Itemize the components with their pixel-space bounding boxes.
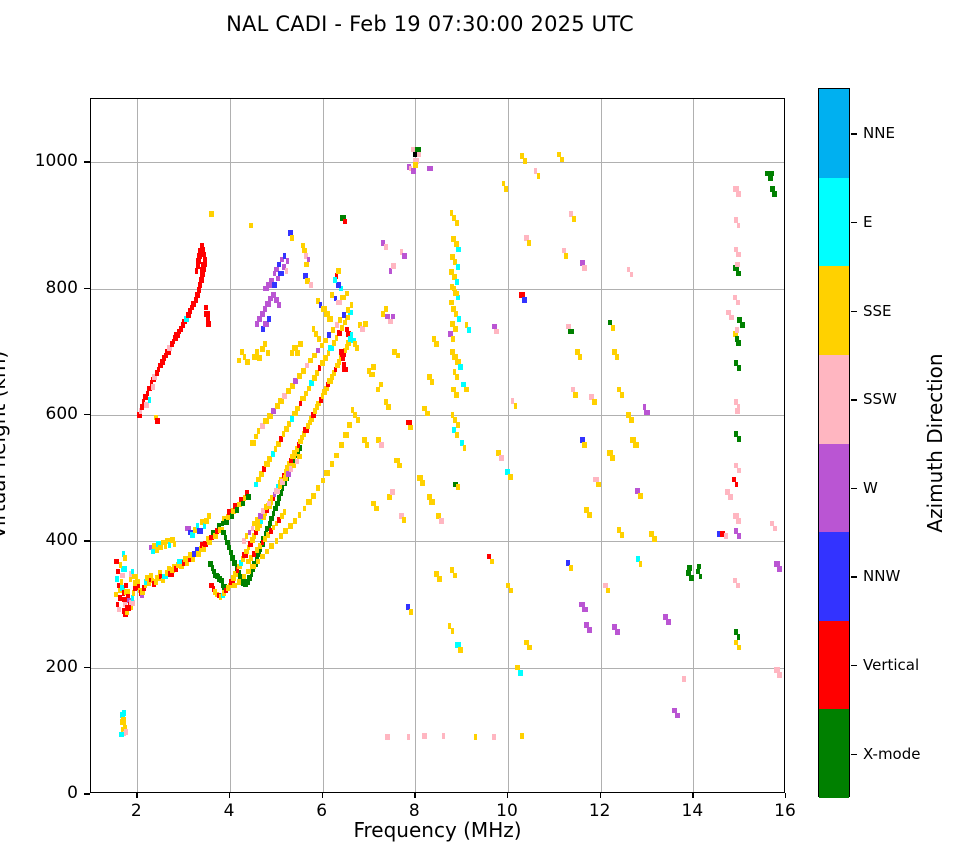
data-point [272, 282, 277, 288]
data-point [408, 425, 413, 431]
data-point [350, 332, 353, 338]
data-point [257, 355, 262, 361]
data-point [736, 191, 741, 197]
data-point [425, 411, 429, 417]
data-point [341, 355, 346, 361]
data-point [687, 565, 692, 571]
data-point [282, 431, 285, 437]
data-point [304, 391, 309, 397]
y-tick [84, 161, 90, 163]
data-point [523, 158, 527, 164]
data-point [298, 512, 301, 518]
data-point [272, 511, 275, 517]
data-point [256, 559, 260, 565]
data-point [274, 488, 280, 494]
data-point [265, 549, 270, 555]
data-point [735, 262, 739, 268]
data-point [261, 326, 265, 332]
data-point [290, 350, 294, 356]
data-point [309, 380, 315, 386]
data-point [257, 428, 260, 434]
colorbar-segment-e[interactable] [819, 178, 849, 267]
data-point [689, 575, 694, 581]
data-point [351, 407, 355, 413]
data-point [430, 379, 435, 385]
colorbar-label-nnw: NNW [863, 567, 900, 585]
data-point [117, 607, 121, 613]
data-point [271, 451, 275, 457]
data-point [209, 211, 214, 217]
data-point [269, 516, 274, 522]
data-point [391, 263, 396, 269]
data-point [254, 434, 258, 440]
data-point [492, 734, 497, 740]
data-point [276, 441, 281, 447]
data-point [260, 346, 265, 352]
colorbar-title: Azimuth Direction [923, 353, 947, 532]
data-point [527, 645, 532, 651]
data-point [327, 316, 333, 322]
data-point [290, 416, 294, 422]
data-point [246, 569, 251, 575]
colorbar-segment-x-mode[interactable] [819, 709, 849, 798]
data-point [777, 566, 783, 572]
y-tick-label: 200 [46, 657, 78, 677]
data-point [242, 574, 246, 580]
data-point [402, 253, 407, 259]
data-point [740, 322, 745, 328]
data-point [736, 271, 741, 277]
data-point [736, 252, 741, 258]
data-point [249, 223, 253, 229]
x-tick [414, 793, 415, 798]
colorbar-segment-vertical[interactable] [819, 621, 849, 710]
data-point [386, 404, 390, 410]
data-point [246, 494, 251, 500]
data-point [735, 482, 738, 488]
data-point [293, 378, 298, 384]
data-point [144, 402, 148, 408]
data-point [255, 321, 259, 327]
data-point [312, 326, 316, 332]
data-point [324, 470, 330, 476]
data-point [504, 186, 508, 192]
data-point [582, 442, 587, 448]
data-point [252, 354, 257, 360]
data-point [168, 542, 171, 548]
data-point [200, 267, 205, 273]
data-point [379, 442, 384, 448]
data-point [397, 463, 402, 469]
colorbar[interactable]: NNEESSESSWWNNWVerticalX-mode [818, 88, 850, 797]
data-point [633, 442, 639, 448]
data-point [304, 262, 309, 268]
data-point [320, 360, 325, 366]
data-point [278, 398, 283, 404]
data-point [365, 442, 370, 448]
data-point [737, 436, 741, 442]
data-point [275, 403, 280, 409]
data-point [292, 411, 297, 417]
y-tick-label: 800 [46, 278, 78, 298]
colorbar-label-w: W [863, 479, 878, 497]
x-tick [600, 793, 601, 798]
gridline-vertical [415, 99, 416, 792]
data-point [456, 422, 460, 428]
data-point [196, 551, 201, 557]
data-point [263, 306, 267, 312]
data-point [409, 609, 413, 615]
data-point [124, 729, 128, 735]
data-point [457, 316, 461, 322]
data-point [509, 588, 513, 594]
colorbar-tick [851, 754, 857, 755]
data-point [381, 311, 386, 317]
data-point [736, 340, 741, 346]
data-point [724, 533, 728, 539]
data-point [439, 518, 444, 524]
data-point [451, 628, 454, 634]
y-tick-label: 1000 [35, 151, 78, 171]
data-point [237, 358, 241, 364]
x-tick [507, 793, 508, 798]
data-point [434, 341, 438, 347]
colorbar-tick [851, 665, 857, 666]
data-point [596, 482, 601, 488]
data-point [173, 541, 177, 547]
data-point [295, 406, 299, 412]
data-point [773, 526, 777, 532]
data-point [316, 348, 320, 354]
data-point [736, 583, 740, 589]
data-point [587, 627, 592, 633]
data-point [499, 455, 504, 461]
data-point [564, 253, 568, 259]
data-point [453, 291, 459, 297]
data-point [411, 168, 415, 174]
colorbar-segment-nnw[interactable] [819, 532, 849, 621]
data-point [429, 499, 434, 505]
data-point [307, 386, 311, 392]
data-point [592, 399, 597, 405]
data-point [494, 329, 499, 335]
data-point [463, 445, 467, 451]
data-point [285, 268, 288, 274]
data-point [298, 341, 303, 347]
data-point [355, 345, 360, 351]
colorbar-label-nne: NNE [863, 124, 895, 142]
data-point [728, 494, 734, 500]
data-point [455, 279, 460, 285]
data-point [297, 454, 303, 460]
data-point [363, 321, 368, 327]
data-point [279, 533, 283, 539]
y-tick [84, 288, 90, 290]
data-point [420, 480, 425, 486]
data-point [199, 277, 204, 283]
data-point [454, 392, 459, 398]
data-point [321, 478, 325, 484]
data-point [263, 321, 269, 327]
data-point [615, 354, 619, 360]
data-point [415, 147, 421, 153]
data-point [343, 432, 349, 438]
data-point [334, 453, 339, 459]
data-point [360, 326, 366, 332]
data-point [279, 436, 283, 442]
data-point [197, 287, 201, 293]
data-point [115, 576, 118, 582]
data-point [736, 518, 741, 524]
data-point [376, 387, 380, 393]
data-point [737, 468, 741, 474]
data-point [514, 403, 517, 409]
data-point [336, 282, 341, 288]
data-point [286, 471, 291, 477]
x-tick [229, 793, 230, 798]
data-point [263, 341, 267, 347]
data-point [736, 300, 740, 306]
data-point [339, 349, 344, 355]
data-point [342, 312, 346, 318]
data-point [768, 176, 773, 182]
gridline-vertical [137, 99, 138, 792]
data-point [568, 329, 573, 335]
colorbar-label-ssw: SSW [863, 390, 897, 408]
data-point [453, 326, 458, 332]
data-point [389, 268, 392, 274]
data-point [456, 484, 460, 490]
data-point [385, 734, 390, 740]
data-point [735, 408, 740, 414]
data-point [266, 350, 269, 356]
data-point [311, 493, 317, 499]
data-point [195, 268, 199, 274]
data-point [458, 647, 463, 653]
data-point [207, 513, 211, 519]
data-point [630, 272, 633, 278]
data-point [237, 579, 241, 585]
data-point [295, 459, 299, 465]
data-point [195, 292, 200, 298]
data-point [560, 157, 564, 163]
data-point [369, 372, 375, 378]
plot-axes [90, 98, 785, 793]
data-point [407, 734, 410, 740]
data-point [396, 353, 400, 359]
data-point [208, 561, 213, 567]
data-point [332, 340, 336, 346]
data-point [537, 173, 540, 179]
data-point [587, 512, 592, 518]
data-point [422, 733, 426, 739]
data-point [337, 330, 342, 336]
gridline-vertical [693, 99, 694, 792]
data-point [250, 564, 256, 570]
data-point [155, 418, 160, 424]
data-point [203, 257, 206, 263]
data-point [297, 373, 302, 379]
data-point [356, 417, 359, 423]
data-point [202, 546, 206, 552]
data-point [232, 583, 237, 589]
data-point [282, 393, 287, 399]
data-point [384, 244, 388, 250]
data-point [455, 220, 459, 226]
data-point [301, 368, 306, 374]
gridline-horizontal [91, 289, 784, 290]
data-point [699, 574, 702, 580]
data-point [256, 477, 261, 483]
data-point [267, 501, 271, 507]
data-point [277, 302, 282, 308]
data-point [644, 410, 649, 416]
data-point [340, 325, 345, 331]
data-point [347, 422, 352, 428]
data-point [327, 332, 331, 338]
gridline-vertical [508, 99, 509, 792]
data-point [350, 302, 354, 308]
data-point [449, 300, 454, 306]
data-point [379, 382, 382, 388]
data-point [610, 455, 615, 461]
data-point [230, 513, 233, 519]
data-point [729, 315, 734, 321]
y-tick [84, 414, 90, 416]
data-point [203, 523, 207, 529]
data-point [200, 272, 205, 278]
data-point [267, 413, 273, 419]
data-point [697, 564, 701, 570]
data-point [323, 338, 327, 344]
data-point [615, 629, 620, 635]
data-point [245, 359, 251, 365]
data-point [287, 421, 291, 427]
data-point [346, 307, 350, 313]
ionogram-figure: NAL CADI - Feb 19 07:30:00 2025 UTC 2468… [0, 0, 958, 857]
data-point [235, 507, 239, 513]
x-tick [692, 793, 693, 798]
colorbar-tick [851, 488, 857, 489]
data-point [277, 495, 281, 501]
data-point [224, 519, 229, 525]
data-point [508, 474, 513, 480]
data-point [262, 466, 266, 472]
data-point [250, 440, 256, 446]
data-point [402, 517, 407, 523]
data-point [345, 291, 349, 297]
data-point [611, 325, 615, 331]
data-point [320, 343, 324, 349]
colorbar-segment-ssw[interactable] [819, 355, 849, 444]
data-point [777, 672, 783, 678]
colorbar-segment-nne[interactable] [819, 89, 849, 178]
data-point [260, 554, 264, 560]
data-point [312, 353, 316, 359]
data-point [164, 543, 167, 549]
y-tick-label: 600 [46, 404, 78, 424]
data-point [467, 327, 470, 333]
y-tick-label: 400 [46, 530, 78, 550]
data-point [342, 367, 347, 373]
colorbar-segment-w[interactable] [819, 444, 849, 533]
data-point [772, 191, 777, 197]
plot-canvas [91, 99, 784, 792]
data-point [735, 327, 739, 333]
gridline-vertical [323, 99, 324, 792]
data-point [413, 162, 418, 168]
data-point [582, 265, 587, 271]
data-point [148, 397, 152, 403]
data-point [251, 526, 254, 532]
data-point [283, 528, 288, 534]
data-point [312, 375, 317, 381]
data-point [737, 645, 741, 651]
gridline-vertical [601, 99, 602, 792]
x-axis-title: Frequency (MHz) [90, 818, 785, 842]
colorbar-label-x-mode: X-mode [863, 745, 920, 763]
data-point [522, 297, 527, 303]
data-point [204, 518, 209, 524]
colorbar-label-sse: SSE [863, 302, 892, 320]
data-point [300, 396, 305, 402]
data-point [606, 588, 610, 594]
data-point [306, 499, 312, 505]
data-point [315, 370, 319, 376]
data-point [336, 300, 342, 306]
data-point [277, 262, 281, 268]
data-point [737, 533, 741, 539]
data-point [316, 485, 321, 491]
data-point [331, 327, 335, 333]
data-point [388, 319, 392, 325]
data-point [442, 733, 445, 739]
data-point [527, 240, 531, 246]
colorbar-tick [851, 133, 857, 134]
data-point [273, 271, 276, 277]
data-point [652, 536, 657, 542]
data-point [371, 364, 376, 370]
data-point [335, 335, 339, 341]
data-point [267, 456, 272, 462]
x-tick [322, 793, 323, 798]
data-point [299, 401, 303, 407]
data-point [269, 543, 274, 549]
data-point [456, 247, 461, 253]
colorbar-segment-sse[interactable] [819, 266, 849, 355]
data-point [286, 258, 289, 264]
data-point [124, 583, 128, 589]
data-point [284, 426, 289, 432]
data-point [737, 223, 740, 229]
data-point [572, 216, 576, 222]
data-point [374, 506, 379, 512]
data-point [241, 501, 246, 507]
data-point [260, 423, 266, 429]
data-point [190, 532, 195, 538]
data-point [455, 374, 458, 380]
data-point [451, 336, 455, 342]
data-point [456, 264, 460, 270]
x-tick [785, 793, 786, 798]
data-point [455, 432, 459, 438]
data-point [518, 670, 523, 676]
data-point [197, 528, 203, 534]
y-tick-label: 0 [67, 783, 78, 803]
gridline-vertical [230, 99, 231, 792]
data-point [191, 556, 195, 562]
data-point [293, 518, 296, 524]
